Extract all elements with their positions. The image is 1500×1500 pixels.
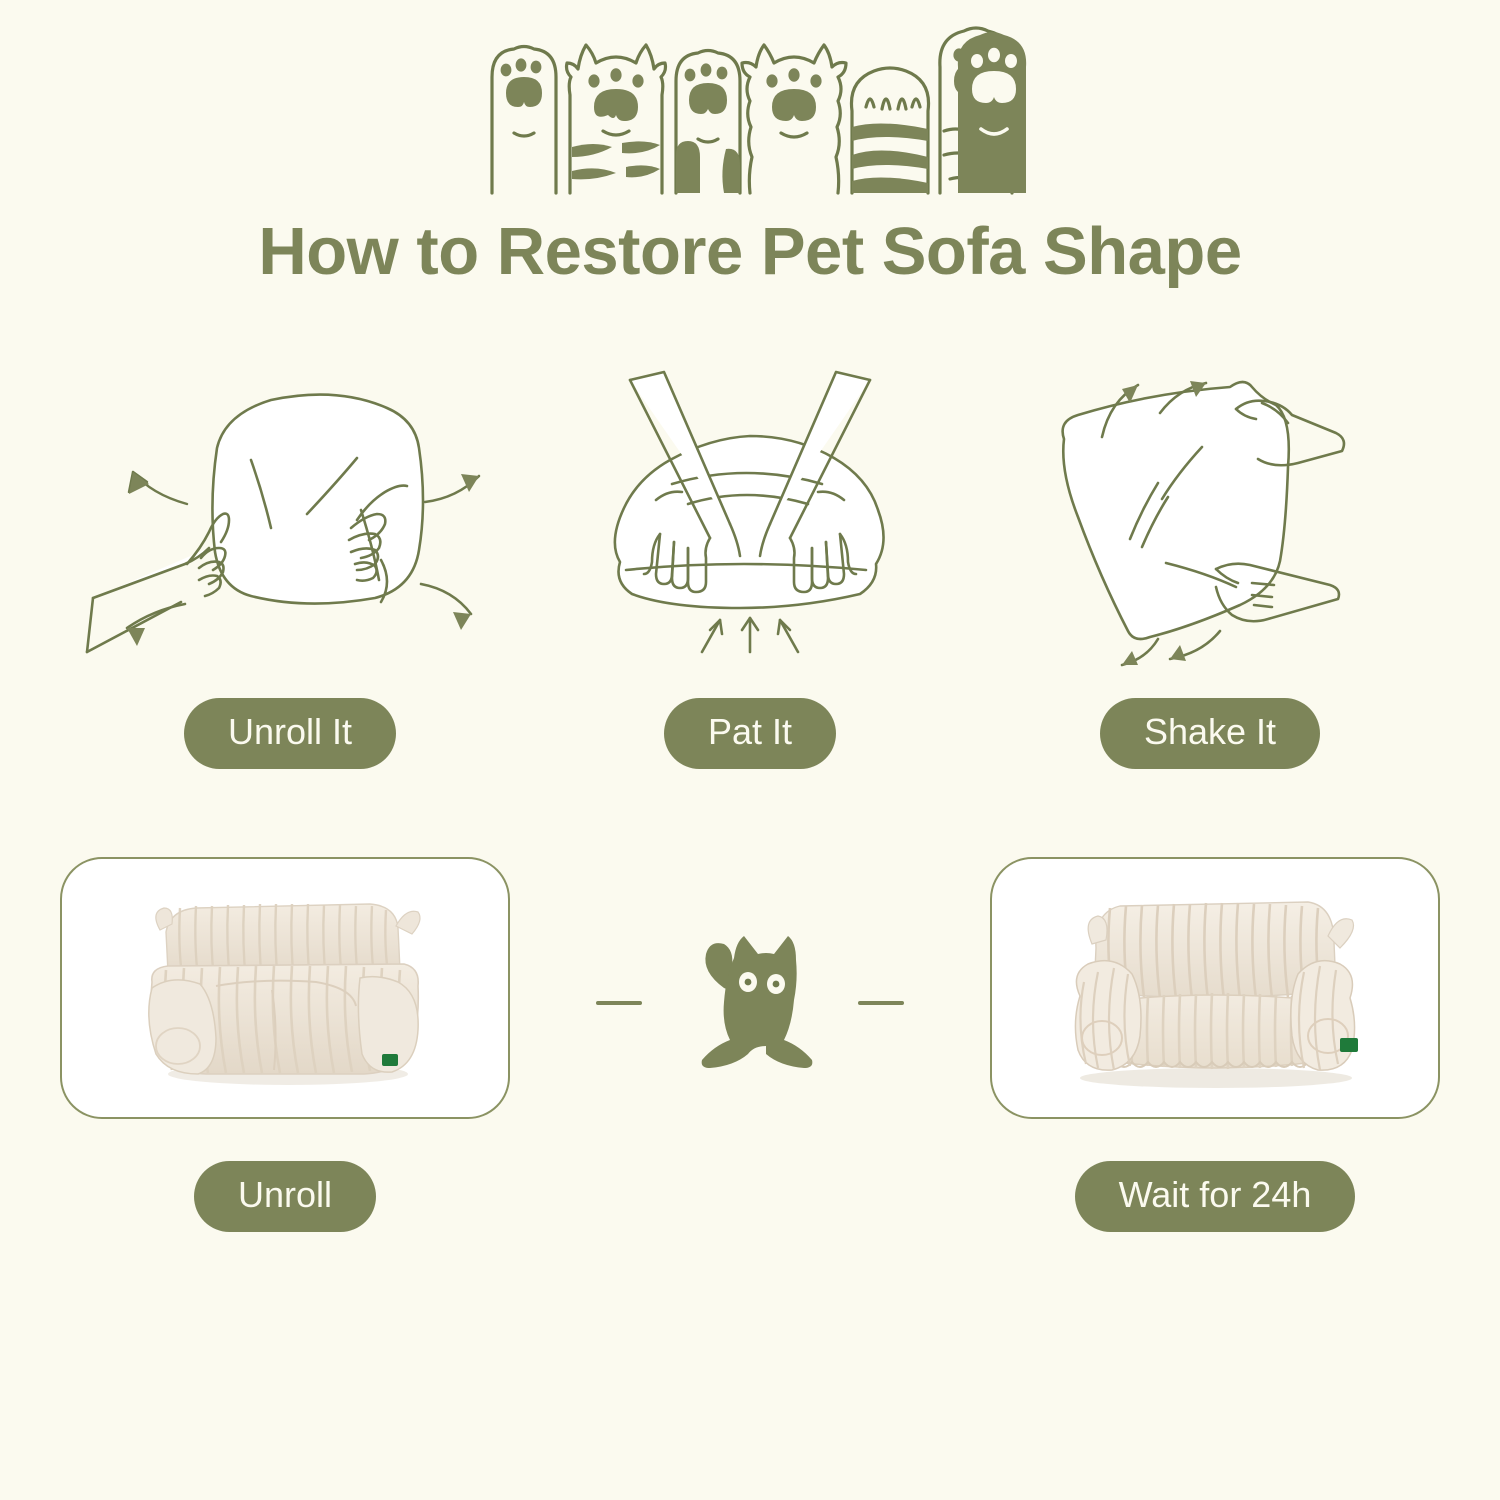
dash-left-icon [596,1001,642,1005]
product-before: Unroll [60,857,510,1232]
product-label-wait-24h: Wait for 24h [1075,1161,1356,1232]
solid-paw [958,32,1026,193]
page-title: How to Restore Pet Sofa Shape [0,213,1500,290]
step-unroll-it: Unroll It [60,342,520,769]
shake-it-illustration [1030,342,1390,672]
transition-separator [510,928,990,1078]
product-comparison-row: Unroll [0,857,1500,1232]
compressed-pet-sofa-photo [120,878,450,1098]
expanded-pet-sofa-photo [1040,878,1390,1098]
paw-decoration-header [0,0,1500,195]
step-shake-it: Shake It [980,342,1440,769]
product-after: Wait for 24h [990,857,1440,1232]
product-label-unroll: Unroll [194,1161,376,1232]
step-pat-it: Pat It [520,342,980,769]
cat-paws-icon [470,15,1030,195]
step-label-unroll-it: Unroll It [184,698,396,769]
product-photo-card-compressed [60,857,510,1119]
dash-right-icon [858,1001,904,1005]
unroll-it-illustration [75,342,505,672]
sitting-cat-icon [680,928,820,1078]
product-photo-card-expanded [990,857,1440,1119]
step-label-pat-it: Pat It [664,698,836,769]
steps-row: Unroll It [0,342,1500,769]
step-label-shake-it: Shake It [1100,698,1320,769]
pat-it-illustration [560,342,940,672]
